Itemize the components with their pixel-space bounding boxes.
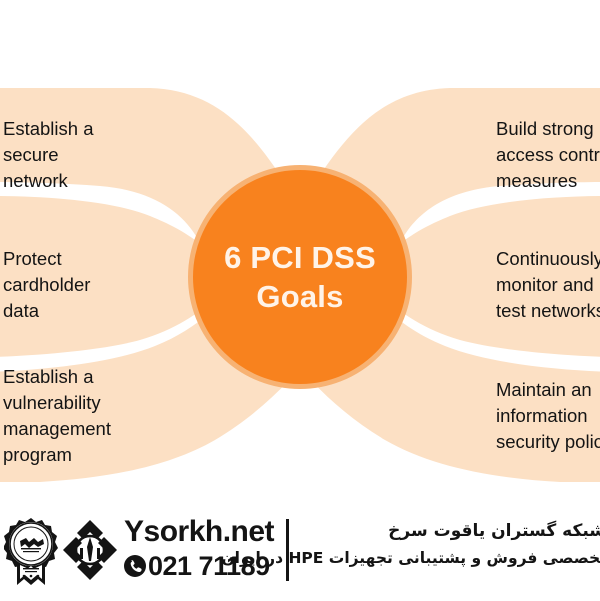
phone-icon — [124, 555, 146, 577]
goal-line: program — [3, 442, 111, 468]
diamond-brand-icon — [62, 519, 118, 581]
goal-line: secure — [3, 142, 94, 168]
center-circle: 6 PCI DSS Goals — [188, 165, 412, 389]
infographic-canvas: 6 PCI DSS Goals Establish a secure netwo… — [0, 0, 600, 500]
goal-line: Protect — [3, 246, 90, 272]
persian-tagline: تخصصی فروش و پشتیبانی تجهیزات HPE در ایر… — [286, 545, 600, 571]
footer-banner: Ysorkh.net 021 71189 شبکه گستران یاقوت س… — [0, 500, 600, 601]
infographic-page: 6 PCI DSS Goals Establish a secure netwo… — [0, 0, 600, 600]
goal-line: Build strong — [496, 116, 600, 142]
center-title-line-1: 6 PCI DSS — [224, 238, 376, 277]
goal-line: Continuously — [496, 246, 600, 272]
goal-line: monitor and — [496, 272, 600, 298]
goal-line: access control — [496, 142, 600, 168]
goal-label-protect-cardholder-data: Protect cardholder data — [3, 246, 90, 324]
goal-line: security policy — [496, 429, 600, 455]
goal-label-continuously-monitor-test-networks: Continuously monitor and test networks — [496, 246, 600, 324]
goal-line: cardholder — [3, 272, 90, 298]
goal-line: Establish a — [3, 116, 94, 142]
goal-label-build-strong-access-control: Build strong access control measures — [496, 116, 600, 194]
goal-line: information — [496, 403, 600, 429]
persian-tagline-block: شبکه گستران یاقوت سرخ تخصصی فروش و پشتیب… — [286, 517, 600, 571]
certification-seal-icon — [4, 515, 58, 587]
goal-line: management — [3, 416, 111, 442]
goal-line: Establish a — [3, 364, 111, 390]
goal-line: data — [3, 298, 90, 324]
goal-line: Maintain an — [496, 377, 600, 403]
persian-company-name: شبکه گستران یاقوت سرخ — [286, 517, 600, 545]
brand-name[interactable]: Ysorkh.net — [124, 515, 284, 549]
goal-label-establish-secure-network: Establish a secure network — [3, 116, 94, 194]
goal-line: measures — [496, 168, 600, 194]
goal-label-vulnerability-management-program: Establish a vulnerability management pro… — [3, 364, 111, 468]
goal-line: test networks — [496, 298, 600, 324]
goal-label-maintain-information-security-policy: Maintain an information security policy — [496, 377, 600, 455]
center-title-line-2: Goals — [256, 277, 343, 316]
goal-line: vulnerability — [3, 390, 111, 416]
goal-line: network — [3, 168, 94, 194]
